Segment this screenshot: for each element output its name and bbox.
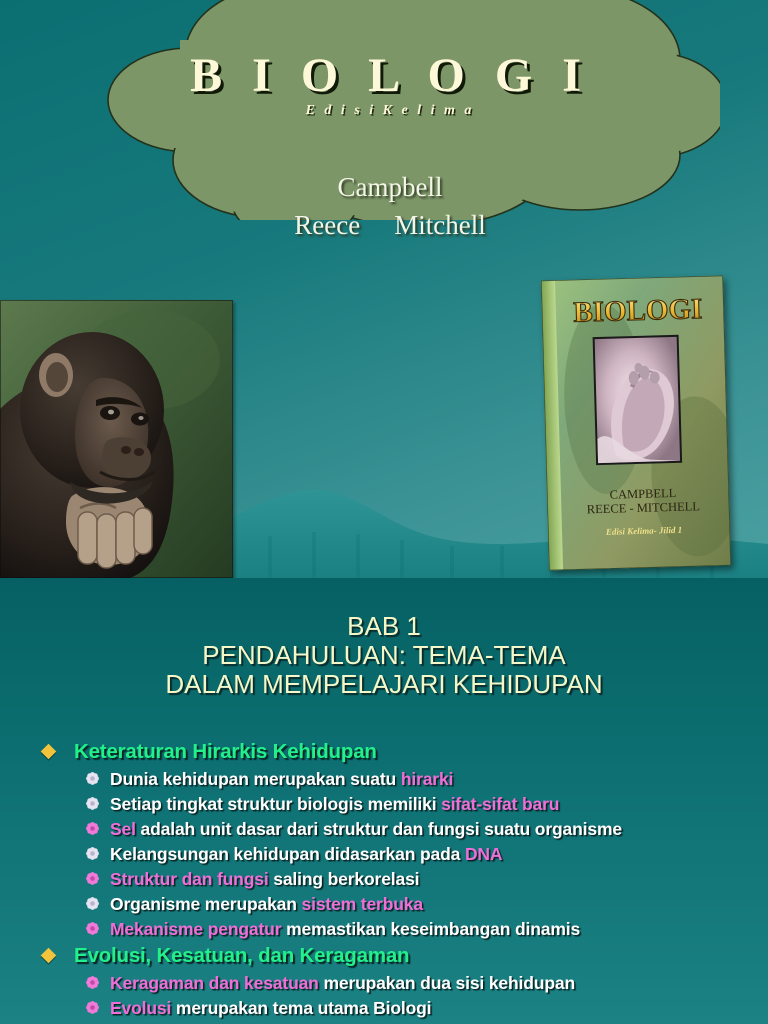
list-item: Setiap tingkat struktur biologis memilik… [0,792,768,817]
chapter-line-1: BAB 1 [0,612,768,641]
chapter-heading: BAB 1 PENDAHULUAN: TEMA-TEMA DALAM MEMPE… [0,612,768,699]
list-item-text: merupakan dua sisi kehidupan [319,973,575,993]
list-item-text: Evolusi [110,998,171,1018]
chapter-line-3: DALAM MEMPELAJARI KEHIDUPAN [0,670,768,699]
flower-bullet-icon [86,797,99,810]
flower-bullet-icon [86,976,99,989]
list-item: Dunia kehidupan merupakan suatu hirarki [0,767,768,792]
list-item-text: Keragaman dan kesatuan [110,973,319,993]
list-item-text: merupakan tema utama Biologi [171,998,431,1018]
list-item-text: Organisme merupakan [110,894,302,914]
list-item-text: Dunia kehidupan merupakan suatu [110,769,401,789]
flower-bullet-icon [86,772,99,785]
list-item-text: adalah unit dasar dari struktur dan fung… [136,819,622,839]
list-item-text: hirarki [401,769,453,789]
list-item-text: sifat-sifat baru [441,794,559,814]
list-item-text: Mekanisme pengatur [110,919,281,939]
flower-bullet-icon [86,922,99,935]
list-item: Evolusi merupakan tema utama Biologi [0,996,768,1021]
list-item-text: Struktur dan fungsi [110,869,269,889]
section-heading-label: Keteraturan Hirarkis Kehidupan [74,740,377,763]
thought-cloud-shape [60,0,720,220]
list-item-text: sistem terbuka [302,894,423,914]
list-item: Sel adalah unit dasar dari struktur dan … [0,817,768,842]
list-item-text: Sel [110,819,136,839]
list-item: Struktur dan fungsi saling berkorelasi [0,867,768,892]
list-item-text: Setiap tingkat struktur biologis memilik… [110,794,441,814]
list-item: Organisme merupakan sistem terbuka [0,892,768,917]
list-item-text: memastikan keseimbangan dinamis [281,919,580,939]
flower-bullet-icon [86,1001,99,1014]
chapter-line-2: PENDAHULUAN: TEMA-TEMA [0,641,768,670]
section-heading-label: Evolusi, Kesatuan, dan Keragaman [74,944,409,967]
diamond-bullet-icon [41,744,57,760]
list-item-text: saling berkorelasi [269,869,420,889]
biology-textbook-cover-image: BIOLOGI CAMPBELL REECE - MITCHELL Edisi … [541,276,731,571]
list-item-text: DNA [465,844,502,864]
section-heading: Evolusi, Kesatuan, dan Keragaman [0,942,768,969]
list-item: Mekanisme pengatur memastikan keseimbang… [0,917,768,942]
list-item: Keragaman dan kesatuan merupakan dua sis… [0,971,768,996]
diamond-bullet-icon [41,948,57,964]
chimpanzee-thinking-photo [0,300,233,578]
presentation-slide: B I O L O G I E d i s i K e l i m a Camp… [0,0,768,1024]
flower-bullet-icon [86,897,99,910]
section-heading: Keteraturan Hirarkis Kehidupan [0,738,768,765]
flower-bullet-icon [86,872,99,885]
flower-bullet-icon [86,847,99,860]
bullet-list: Keteraturan Hirarkis KehidupanDunia kehi… [0,738,768,1021]
list-item-text: Kelangsungan kehidupan didasarkan pada [110,844,465,864]
flower-bullet-icon [86,822,99,835]
book-title-text: BIOLOGI [573,293,703,329]
list-item: Kelangsungan kehidupan didasarkan pada D… [0,842,768,867]
